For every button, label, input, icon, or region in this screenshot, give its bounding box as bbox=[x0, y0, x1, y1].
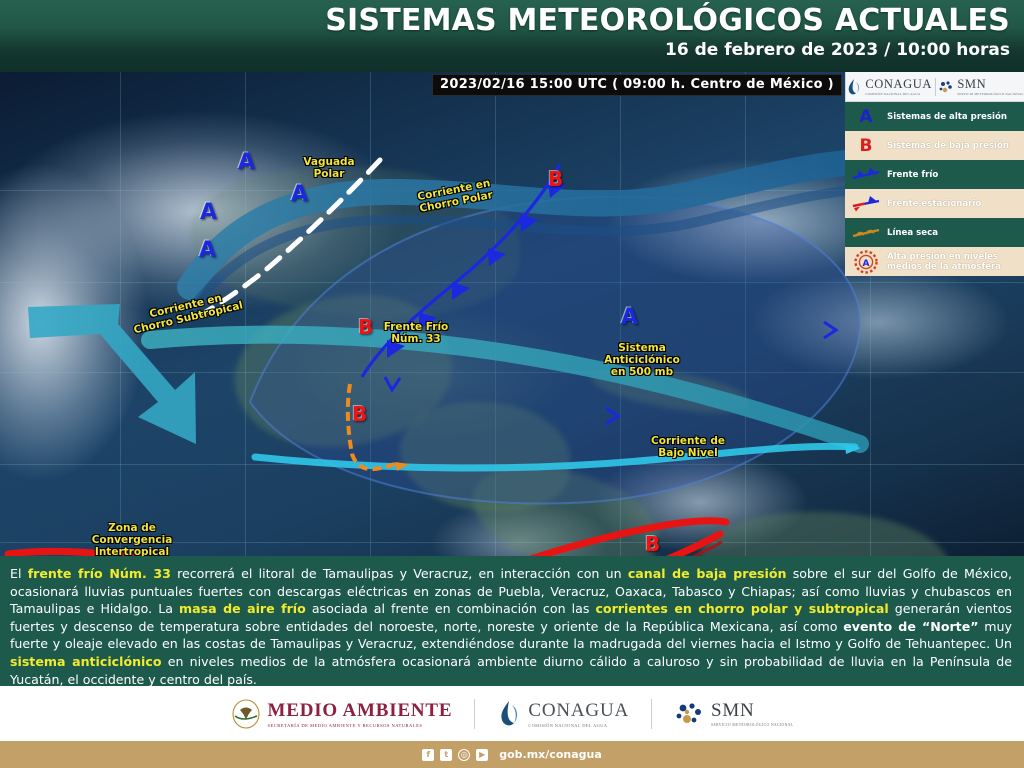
legend-label: Frente estacionario bbox=[887, 199, 981, 209]
low-pressure-marker: B bbox=[358, 315, 373, 339]
footer-smn-wordmark: SMN SERVICIO METEOROLÓGICO NACIONAL bbox=[711, 700, 793, 728]
low-pressure-marker: B bbox=[548, 167, 563, 191]
conagua-drop-icon bbox=[497, 699, 521, 729]
page-title: SISTEMAS METEOROLÓGICOS ACTUALES bbox=[325, 3, 1010, 38]
high-pressure-marker: A bbox=[200, 200, 217, 225]
text-run: asociada al frente en combinación con la… bbox=[306, 601, 596, 616]
legend-item-frente-estacionario: Frente estacionario bbox=[845, 189, 1024, 218]
twitter-icon[interactable]: t bbox=[440, 749, 452, 761]
text-run: recorrerá el litoral de Tamaulipas y Ver… bbox=[171, 566, 628, 581]
forecast-paragraph: El frente frío Núm. 33 recorrerá el lito… bbox=[10, 565, 1012, 688]
highlighted-term: canal de baja presión bbox=[628, 566, 787, 581]
medio-ambiente-wordmark: MEDIO AMBIENTE SECRETARÍA DE MEDIO AMBIE… bbox=[268, 700, 453, 728]
footer-conagua-logo: CONAGUA COMISIÓN NACIONAL DEL AGUA bbox=[497, 699, 629, 729]
annotation-corriente-bajo-nivel: Corriente de Bajo Nivel bbox=[640, 435, 736, 459]
dry-line-icon bbox=[850, 222, 882, 244]
annotation-frente-frio: Frente Frío Núm. 33 bbox=[375, 321, 457, 345]
map-logo-strip: CONAGUA COMISIÓN NACIONAL DEL AGUA SMN S… bbox=[845, 72, 1024, 102]
legend-item-alta-presion: A Sistemas de alta presión bbox=[845, 102, 1024, 131]
legend-item-frente-frio: Frente frío bbox=[845, 160, 1024, 189]
header-datetime: 16 de febrero de 2023 / 10:00 horas bbox=[665, 40, 1010, 60]
smn-spiral-icon bbox=[674, 699, 704, 729]
legend-label: Alta presión en niveles medios de la atm… bbox=[887, 252, 1020, 272]
footer-divider bbox=[651, 699, 652, 729]
mid-level-high-icon: A bbox=[850, 251, 882, 273]
medio-ambiente-logo: MEDIO AMBIENTE SECRETARÍA DE MEDIO AMBIE… bbox=[231, 698, 453, 730]
annotation-sistema-anticiclonico: Sistema Anticiclónico en 500 mb bbox=[588, 342, 696, 378]
highlighted-term: masa de aire frío bbox=[179, 601, 306, 616]
satellite-map: A A A A A B B B B Vaguada Polar Corrient… bbox=[0, 72, 1024, 556]
anticyclone-circulation bbox=[250, 197, 860, 504]
low-pressure-marker: B bbox=[645, 532, 660, 556]
legend-label: Frente frío bbox=[887, 170, 938, 180]
smn-wordmark: SMN SERVICIO METEOROLÓGICO NACIONAL bbox=[957, 77, 1023, 96]
header-banner: SISTEMAS METEOROLÓGICOS ACTUALES 16 de f… bbox=[0, 0, 1024, 72]
conagua-logo: CONAGUA COMISIÓN NACIONAL DEL AGUA bbox=[846, 77, 932, 96]
legend-label: Sistemas de baja presión bbox=[887, 141, 1009, 151]
high-pressure-marker: A bbox=[238, 150, 255, 175]
legend-label: Sistemas de alta presión bbox=[887, 112, 1007, 122]
low-pressure-marker: B bbox=[352, 402, 367, 426]
footer-smn-logo: SMN SERVICIO METEOROLÓGICO NACIONAL bbox=[674, 699, 793, 729]
text-run: El bbox=[10, 566, 28, 581]
high-pressure-marker: A bbox=[621, 305, 638, 330]
cold-front-icon bbox=[850, 164, 882, 186]
footer-logo-bar: MEDIO AMBIENTE SECRETARÍA DE MEDIO AMBIE… bbox=[0, 686, 1024, 741]
legend-item-baja-presion: B Sistemas de baja presión bbox=[845, 131, 1024, 160]
facebook-icon[interactable]: f bbox=[422, 749, 434, 761]
high-pressure-marker: A bbox=[291, 182, 308, 207]
logo-divider bbox=[935, 78, 936, 96]
social-bar: f t ◎ ▶ gob.mx/conagua bbox=[0, 741, 1024, 768]
forecast-text-block: El frente frío Núm. 33 recorrerá el lito… bbox=[0, 556, 1024, 686]
legend-item-linea-seca: Línea seca bbox=[845, 218, 1024, 247]
map-legend: A Sistemas de alta presión B Sistemas de… bbox=[845, 102, 1024, 276]
conagua-drop-icon bbox=[846, 78, 862, 96]
map-timestamp: 2023/02/16 15:00 UTC ( 09:00 h. Centro d… bbox=[432, 74, 842, 96]
letter-a-icon: A bbox=[850, 106, 882, 128]
highlighted-term: sistema anticiclónico bbox=[10, 654, 162, 669]
eagle-seal-icon bbox=[231, 698, 261, 730]
highlighted-term: evento de “Norte” bbox=[843, 619, 978, 634]
conagua-wordmark: CONAGUA COMISIÓN NACIONAL DEL AGUA bbox=[865, 77, 932, 96]
website-url[interactable]: gob.mx/conagua bbox=[499, 748, 602, 761]
instagram-icon[interactable]: ◎ bbox=[458, 749, 470, 761]
legend-label: Línea seca bbox=[887, 228, 938, 238]
footer-divider bbox=[474, 699, 475, 729]
legend-item-alta-presion-media: A Alta presión en niveles medios de la a… bbox=[845, 247, 1024, 276]
svg-text:A: A bbox=[863, 259, 870, 269]
stationary-front-icon bbox=[850, 193, 882, 215]
highlighted-term: corrientes en chorro polar y subtropical bbox=[595, 601, 888, 616]
smn-spiral-icon bbox=[938, 78, 954, 96]
annotation-vaguada-polar: Vaguada Polar bbox=[283, 156, 375, 180]
high-pressure-marker: A bbox=[199, 238, 216, 263]
letter-b-icon: B bbox=[850, 135, 882, 157]
footer-conagua-wordmark: CONAGUA COMISIÓN NACIONAL DEL AGUA bbox=[528, 700, 629, 728]
annotation-zona-convergencia: Zona de Convergencia Intertropical bbox=[78, 522, 186, 556]
youtube-icon[interactable]: ▶ bbox=[476, 749, 488, 761]
infographic-page: SISTEMAS METEOROLÓGICOS ACTUALES 16 de f… bbox=[0, 0, 1024, 768]
smn-logo: SMN SERVICIO METEOROLÓGICO NACIONAL bbox=[938, 77, 1023, 96]
highlighted-term: frente frío Núm. 33 bbox=[28, 566, 171, 581]
